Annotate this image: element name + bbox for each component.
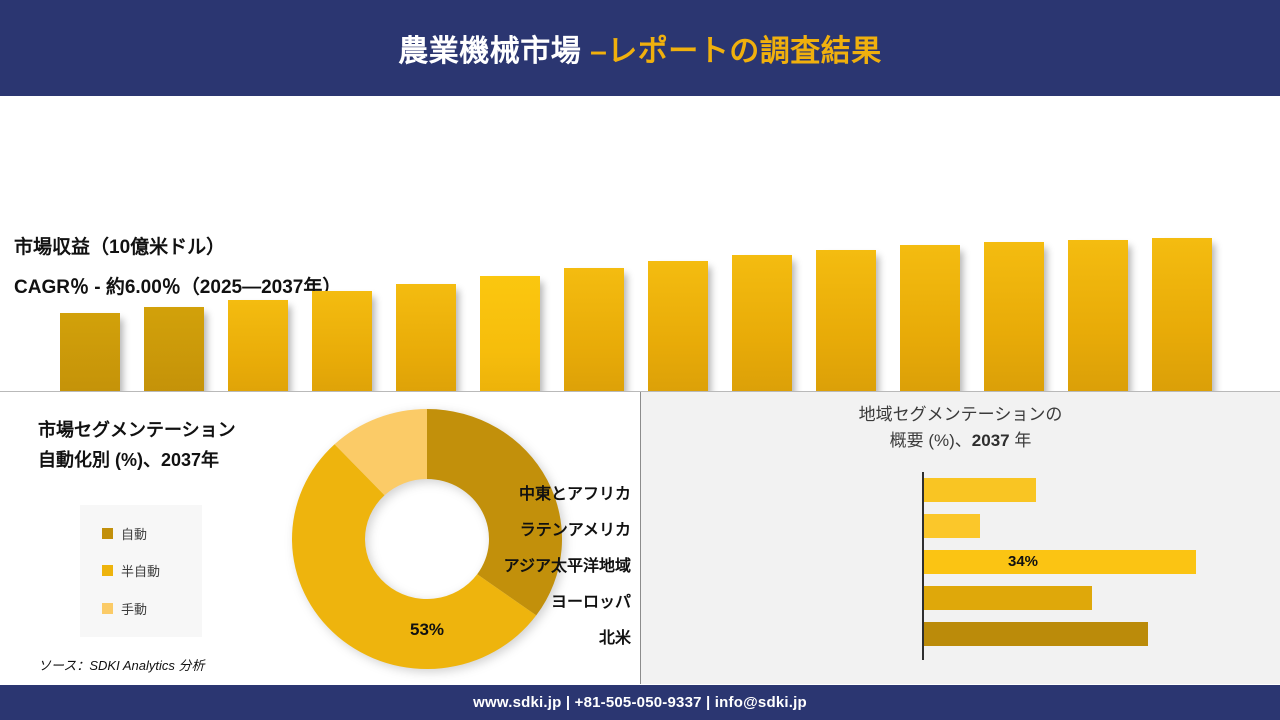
page-title: 農業機械市場 –レポートの調査結果 bbox=[398, 26, 882, 70]
donut-legend-item[interactable]: 手動 bbox=[102, 599, 202, 618]
segmentation-title-line2: 自動化別 (%)、2037年 bbox=[38, 450, 219, 470]
legend-swatch-icon bbox=[102, 528, 113, 539]
region-title-line1: 地域セグメンテーションの bbox=[859, 405, 1063, 424]
donut-legend-item[interactable]: 自動 bbox=[102, 524, 202, 543]
legend-swatch-icon bbox=[102, 603, 113, 614]
infographic-page: 農業機械市場 –レポートの調査結果 市場収益（10億米ドル） CAGR％ - 約… bbox=[0, 0, 1280, 720]
legend-swatch-icon bbox=[102, 565, 113, 576]
region-bar[interactable] bbox=[924, 586, 1092, 610]
region-bar[interactable] bbox=[924, 478, 1036, 502]
region-panel: 地域セグメンテーションの 概要 (%)、2037 年 中東とアフリカラテンアメリ… bbox=[641, 392, 1280, 684]
page-title-secondary: –レポートの調査結果 bbox=[590, 35, 882, 68]
region-bars-group: 中東とアフリカラテンアメリカアジア太平洋地域34%ヨーロッパ北米 bbox=[641, 472, 1280, 660]
donut-legend-label: 手動 bbox=[121, 599, 147, 618]
region-chart-title: 地域セグメンテーションの 概要 (%)、2037 年 bbox=[641, 402, 1280, 455]
source-note: ソース：SDKI Analytics 分析 bbox=[38, 655, 204, 674]
page-header: 農業機械市場 –レポートの調査結果 bbox=[0, 0, 1280, 96]
region-bar-label: ヨーロッパ bbox=[371, 588, 631, 612]
region-bar[interactable] bbox=[924, 550, 1196, 574]
region-title-line2-prefix: 概要 (%)、 bbox=[890, 431, 972, 450]
footer-contact: www.sdki.jp | +81-505-050-9337 | info@sd… bbox=[473, 694, 807, 711]
region-bar-label: ラテンアメリカ bbox=[371, 516, 631, 540]
segmentation-title-line1: 市場セグメンテーション bbox=[38, 420, 236, 440]
region-bar[interactable] bbox=[924, 622, 1148, 646]
donut-legend-label: 半自動 bbox=[121, 561, 160, 580]
donut-legend-label: 自動 bbox=[121, 524, 147, 543]
donut-legend-item[interactable]: 半自動 bbox=[102, 561, 202, 580]
region-bar[interactable] bbox=[924, 514, 980, 538]
region-bar-label: 中東とアフリカ bbox=[371, 480, 631, 504]
region-title-line2-suffix: 年 bbox=[1010, 431, 1032, 450]
revenue-chart-panel: 市場収益（10億米ドル） CAGR％ - 約6.00％（2025―2037年） … bbox=[0, 96, 1280, 392]
page-title-primary: 農業機械市場 bbox=[398, 35, 590, 68]
page-footer: www.sdki.jp | +81-505-050-9337 | info@sd… bbox=[0, 685, 1280, 720]
region-bar-label: 北米 bbox=[371, 624, 631, 648]
donut-slice[interactable] bbox=[427, 409, 562, 615]
region-bar-value-label: 34% bbox=[1008, 553, 1038, 570]
region-bar-label: アジア太平洋地域 bbox=[371, 552, 631, 576]
region-title-year: 2037 bbox=[972, 431, 1010, 450]
donut-legend: 自動半自動手動 bbox=[80, 505, 202, 637]
